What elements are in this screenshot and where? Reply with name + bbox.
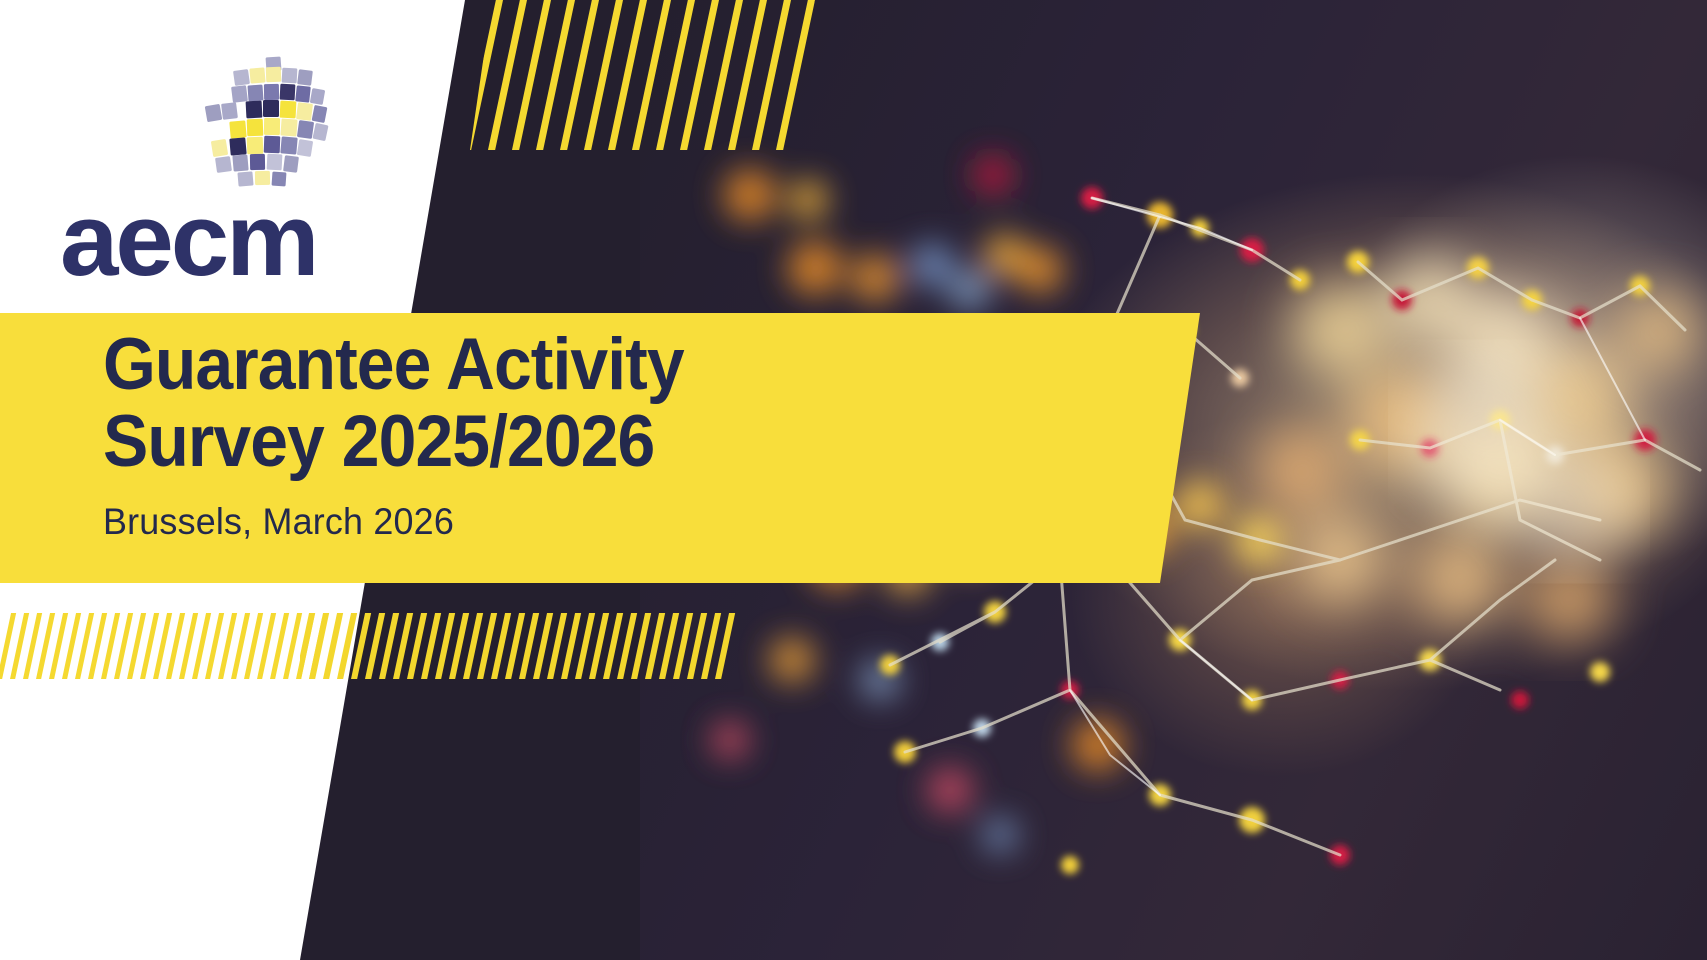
aecm-logo: aecm [60, 55, 360, 275]
title-slide: Guarantee Activity Survey 2025/2026 Brus… [0, 0, 1707, 960]
title-block: Guarantee Activity Survey 2025/2026 Brus… [103, 326, 1083, 542]
diagonal-stripes-bottom-left [0, 613, 322, 679]
page-title-line-2: Survey 2025/2026 [103, 403, 1014, 480]
aecm-wordmark: aecm [60, 188, 316, 291]
diagonal-stripes-bottom-dark [300, 613, 740, 679]
slide-subtitle: Brussels, March 2026 [103, 502, 1054, 542]
pixel-globe-icon [208, 55, 348, 180]
page-title-line-1: Guarantee Activity [103, 326, 1014, 403]
diagonal-stripes-top [470, 0, 815, 150]
